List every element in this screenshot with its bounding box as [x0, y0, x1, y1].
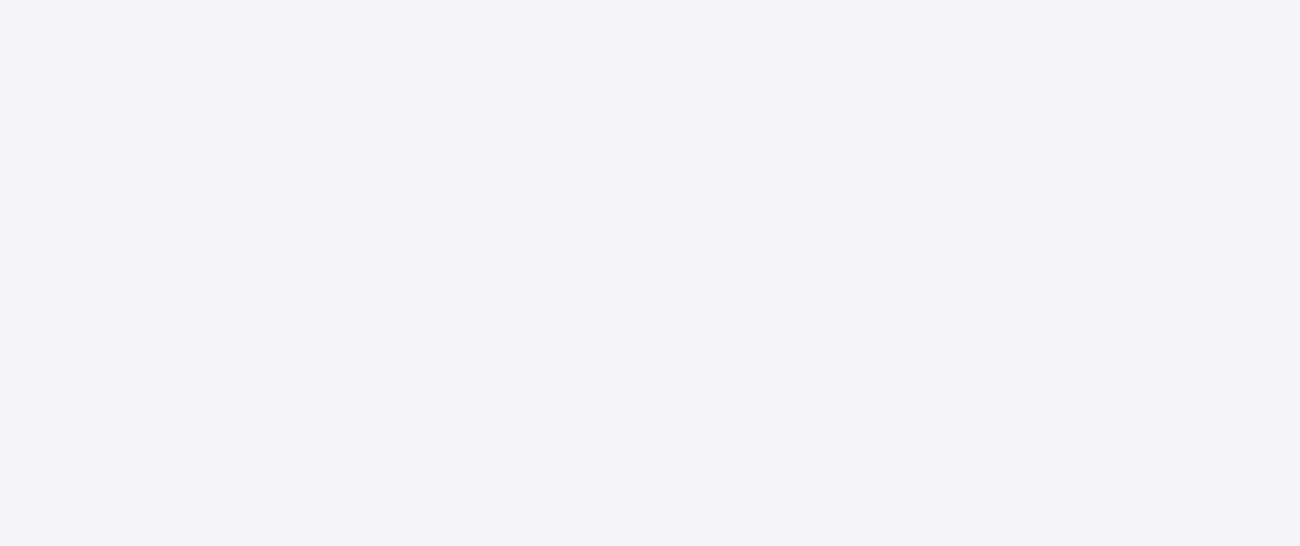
signs-card-board	[0, 0, 1300, 546]
